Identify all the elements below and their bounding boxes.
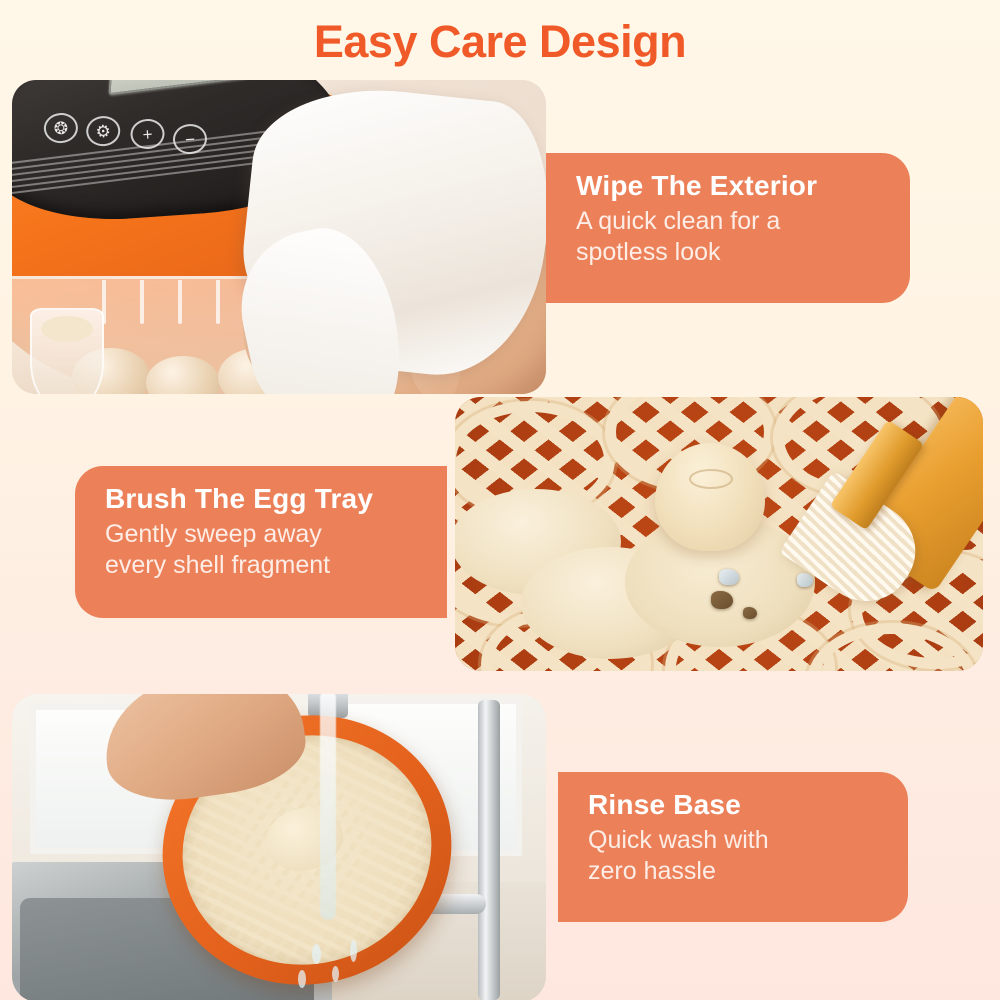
photo-brush-egg-tray <box>455 397 983 671</box>
shell-fragment <box>797 573 813 587</box>
water-drip <box>350 940 357 962</box>
lcd-display-icon <box>109 80 252 95</box>
callout-subtitle: Gently sweep away every shell fragment <box>105 519 421 580</box>
water-drip <box>312 944 321 964</box>
callout-subtitle: A quick clean for a spotless look <box>576 206 884 267</box>
shell-fragment <box>743 607 757 619</box>
callout-brush-egg-tray: Brush The Egg Tray Gently sweep away eve… <box>75 466 447 618</box>
water-stream <box>320 694 336 920</box>
water-drip <box>298 970 306 988</box>
shell-fragment <box>711 591 733 609</box>
callout-wipe-exterior: Wipe The Exterior A quick clean for a sp… <box>546 153 910 303</box>
photo-rinse-base <box>12 694 546 1000</box>
faucet-column <box>478 700 500 1000</box>
callout-title: Rinse Base <box>588 788 882 821</box>
callout-title: Wipe The Exterior <box>576 169 884 202</box>
callout-title: Brush The Egg Tray <box>105 482 421 515</box>
page-title: Easy Care Design <box>0 16 1000 68</box>
gear-button-icon: ⚙ <box>85 115 121 147</box>
shell-fragment <box>719 569 739 585</box>
callout-rinse-base: Rinse Base Quick wash with zero hassle <box>558 772 908 922</box>
photo-wipe-exterior: ❂ ⚙ + − <box>12 80 546 394</box>
tray-center-knob <box>655 443 765 551</box>
incubator-wipe-illustration: ❂ ⚙ + − <box>12 80 546 394</box>
water-cup <box>30 308 104 394</box>
water-drip <box>332 966 339 982</box>
callout-subtitle: Quick wash with zero hassle <box>588 825 882 886</box>
rinse-base-illustration <box>12 694 546 1000</box>
fan-button-icon: ❂ <box>43 112 79 144</box>
egg-tray-brush-illustration <box>455 397 983 671</box>
